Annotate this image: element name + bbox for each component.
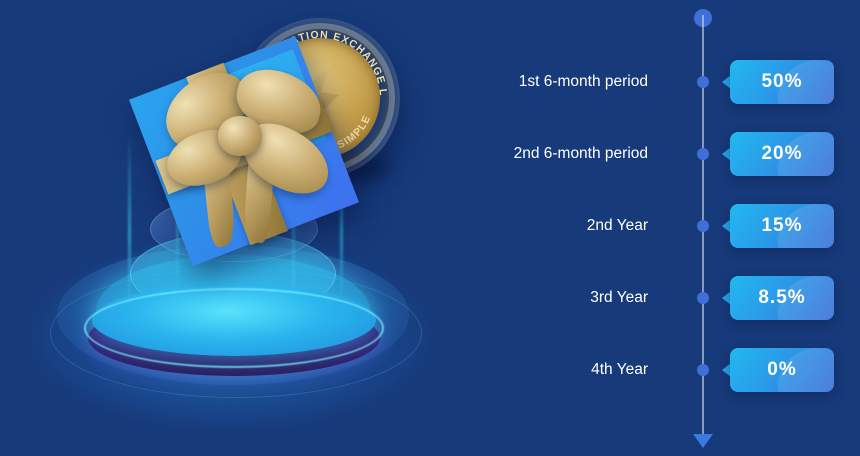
timeline-row-pill[interactable]: 0% — [730, 348, 834, 392]
vesting-schedule-timeline: 1st 6-month period 50% 2nd 6-month perio… — [480, 0, 860, 456]
timeline-row[interactable]: 1st 6-month period 50% — [480, 60, 860, 104]
timeline-row-value: 50% — [761, 71, 802, 93]
timeline-row-value: 15% — [761, 215, 802, 237]
illustration-stage: NEXT GENERATION EXCHANGE LTD TRADE MADE … — [0, 0, 860, 456]
timeline-row-value: 20% — [761, 143, 802, 165]
timeline-row-label: 1st 6-month period — [480, 60, 648, 104]
podium-glow-ring — [84, 288, 384, 368]
timeline-row-value: 0% — [767, 359, 796, 381]
timeline-row-label: 4th Year — [480, 348, 648, 392]
timeline-row-pill[interactable]: 8.5% — [730, 276, 834, 320]
timeline-row-label: 2nd Year — [480, 204, 648, 248]
timeline-row[interactable]: 3rd Year 8.5% — [480, 276, 860, 320]
blue-gift-box-with-gold-ribbon — [110, 20, 410, 245]
gift-box-coin-podium-illustration: NEXT GENERATION EXCHANGE LTD TRADE MADE … — [0, 0, 470, 456]
timeline-row[interactable]: 4th Year 0% — [480, 348, 860, 392]
timeline-row-pill[interactable]: 50% — [730, 60, 834, 104]
timeline-arrow-icon — [693, 434, 713, 448]
timeline-row-label: 3rd Year — [480, 276, 648, 320]
timeline-row-dot — [697, 292, 709, 304]
timeline-row[interactable]: 2nd 6-month period 20% — [480, 132, 860, 176]
timeline-row-value: 8.5% — [758, 287, 805, 309]
bow-knot — [218, 116, 262, 156]
timeline-row-label: 2nd 6-month period — [480, 132, 648, 176]
timeline-row-pill[interactable]: 15% — [730, 204, 834, 248]
timeline-row-dot — [697, 364, 709, 376]
timeline-row-dot — [697, 220, 709, 232]
timeline-row-dot — [697, 76, 709, 88]
timeline-row-pill[interactable]: 20% — [730, 132, 834, 176]
timeline-row[interactable]: 2nd Year 15% — [480, 204, 860, 248]
timeline-row-dot — [697, 148, 709, 160]
